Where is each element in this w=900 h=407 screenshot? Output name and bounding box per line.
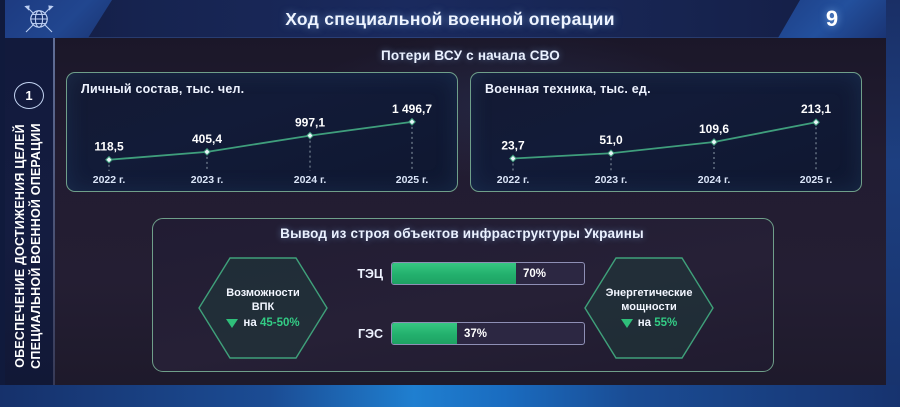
triangle-down-icon — [226, 319, 238, 328]
bar-value-ges: 37% — [464, 323, 487, 344]
rail-divider — [53, 38, 55, 385]
frame-right-edge — [886, 0, 900, 407]
line-chart-personnel: 118,52022 г.405,42023 г.997,12024 г.1 49… — [67, 73, 457, 191]
chart-card-personnel: Личный состав, тыс. чел. 118,52022 г.405… — [66, 72, 458, 192]
slide-header: Ход специальной военной операции 9 — [0, 0, 900, 38]
page-title: Ход специальной военной операции — [0, 0, 900, 38]
svg-text:2024 г.: 2024 г. — [698, 174, 731, 186]
svg-text:2025 г.: 2025 г. — [396, 174, 429, 186]
svg-text:2022 г.: 2022 г. — [93, 174, 126, 186]
svg-text:2023 г.: 2023 г. — [191, 174, 224, 186]
rail-vertical-label: ОБЕСПЕЧЕНИЕ ДОСТИЖЕНИЯ ЦЕЛЕЙ СПЕЦИАЛЬНОЙ… — [6, 76, 50, 407]
svg-text:405,4: 405,4 — [192, 132, 222, 146]
hexagon-vpk-delta-value: 45-50% — [260, 317, 300, 329]
bar-track-tec: 70% — [391, 262, 585, 285]
losses-section-title: Потери ВСУ с начала СВО — [55, 48, 886, 63]
bar-label-tec: ТЭЦ — [355, 267, 383, 281]
svg-text:2024 г.: 2024 г. — [294, 174, 327, 186]
hexagon-vpk-delta: на 45-50% — [226, 317, 299, 329]
bar-value-tec: 70% — [523, 263, 546, 284]
bar-fill-tec — [392, 263, 516, 284]
hexagon-energy-name-line-2: мощности — [621, 301, 676, 314]
frame-bottom-edge — [0, 385, 900, 407]
bar-row-tec: ТЭЦ 70% — [355, 262, 585, 285]
hexagon-vpk-delta-prefix: на — [243, 317, 256, 329]
rail-label-line-1: ОБЕСПЕЧЕНИЕ ДОСТИЖЕНИЯ ЦЕЛЕЙ — [12, 124, 28, 368]
hexagon-vpk-name-line-2: ВПК — [252, 301, 275, 314]
svg-text:51,0: 51,0 — [599, 133, 623, 147]
hexagon-energy-name-line-1: Энергетические — [606, 287, 693, 300]
hexagon-vpk-name-line-1: Возможности — [226, 287, 300, 300]
chart-card-equipment: Военная техника, тыс. ед. 23,72022 г.51,… — [470, 72, 862, 192]
left-rail: 1 ОБЕСПЕЧЕНИЕ ДОСТИЖЕНИЯ ЦЕЛЕЙ СПЕЦИАЛЬН… — [5, 38, 53, 385]
bar-label-ges: ГЭС — [355, 327, 383, 341]
bar-track-ges: 37% — [391, 322, 585, 345]
hexagon-energy-capacity: Энергетические мощности на 55% — [583, 256, 715, 360]
hexagon-vpk-capability: Возможности ВПК на 45-50% — [197, 256, 329, 360]
bar-row-ges: ГЭС 37% — [355, 322, 585, 345]
rail-label-line-2: СПЕЦИАЛЬНОЙ ВОЕННОЙ ОПЕРАЦИИ — [28, 123, 44, 369]
svg-text:118,5: 118,5 — [94, 140, 124, 154]
line-chart-equipment: 23,72022 г.51,02023 г.109,62024 г.213,12… — [471, 73, 861, 191]
slide-screen: Ход специальной военной операции 9 1 ОБЕ… — [0, 0, 900, 407]
svg-text:2022 г.: 2022 г. — [497, 174, 530, 186]
hexagon-energy-delta: на 55% — [621, 317, 678, 329]
svg-text:2023 г.: 2023 г. — [595, 174, 628, 186]
bar-fill-ges — [392, 323, 457, 344]
svg-text:213,1: 213,1 — [801, 102, 831, 116]
svg-text:23,7: 23,7 — [501, 138, 525, 152]
hexagon-energy-delta-value: 55% — [654, 317, 677, 329]
svg-text:109,6: 109,6 — [699, 122, 729, 136]
svg-text:2025 г.: 2025 г. — [800, 174, 833, 186]
frame-left-edge — [0, 0, 5, 385]
page-number: 9 — [778, 0, 886, 38]
svg-text:1 496,7: 1 496,7 — [392, 102, 432, 116]
svg-text:997,1: 997,1 — [295, 116, 325, 130]
triangle-down-icon — [621, 319, 633, 328]
infrastructure-section-title: Вывод из строя объектов инфраструктуры У… — [152, 226, 772, 241]
hexagon-energy-delta-prefix: на — [638, 317, 651, 329]
